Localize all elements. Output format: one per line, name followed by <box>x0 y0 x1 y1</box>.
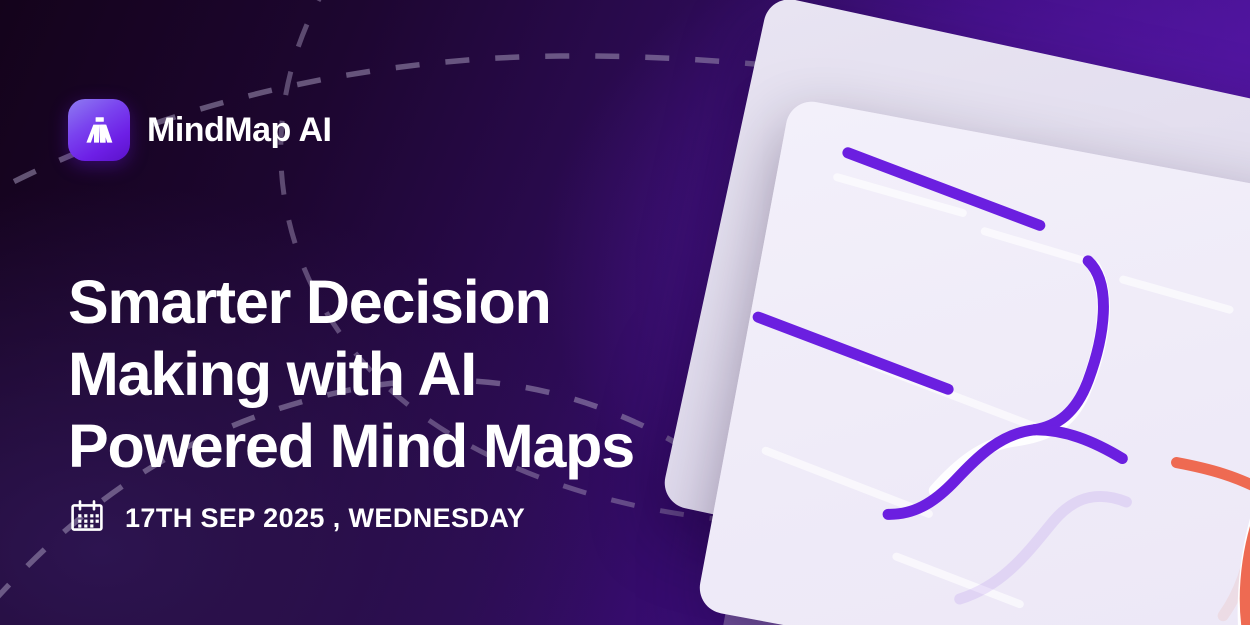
calendar-icon <box>69 498 105 539</box>
ghost-line-2 <box>983 231 1098 264</box>
ghost-branch-purple <box>960 473 1127 625</box>
mind-map-cards-illustration <box>690 30 1250 625</box>
ghost-line-3 <box>1121 280 1231 310</box>
mindmap-card-front <box>695 97 1250 625</box>
event-banner: MindMap AI Smarter Decision Making with … <box>0 0 1250 625</box>
mind-map-branches <box>695 97 1250 625</box>
event-date: 17TH SEP 2025 , WEDNESDAY <box>69 498 525 539</box>
mindmap-m-logo-icon <box>68 99 130 161</box>
orange-y-branch-left <box>1174 463 1250 494</box>
purple-branch-bottom <box>752 317 955 389</box>
banner-content: MindMap AI Smarter Decision Making with … <box>68 0 708 625</box>
brand-lockup[interactable]: MindMap AI <box>68 99 332 161</box>
purple-y-branch-stem <box>1034 257 1114 439</box>
page-title: Smarter Decision Making with AI Powered … <box>68 266 668 482</box>
headline-line-2: Making with AI <box>68 340 476 408</box>
purple-y-branch-right <box>1032 427 1125 458</box>
event-date-text: 17TH SEP 2025 , WEDNESDAY <box>125 503 525 534</box>
purple-y-branch-left <box>888 406 1034 538</box>
headline-line-3: Powered Mind Maps <box>68 412 634 480</box>
brand-name: MindMap AI <box>147 111 332 150</box>
ghost-line-5 <box>855 361 1058 433</box>
headline-line-1: Smarter Decision <box>68 268 551 336</box>
ghost-line-6 <box>760 451 935 514</box>
